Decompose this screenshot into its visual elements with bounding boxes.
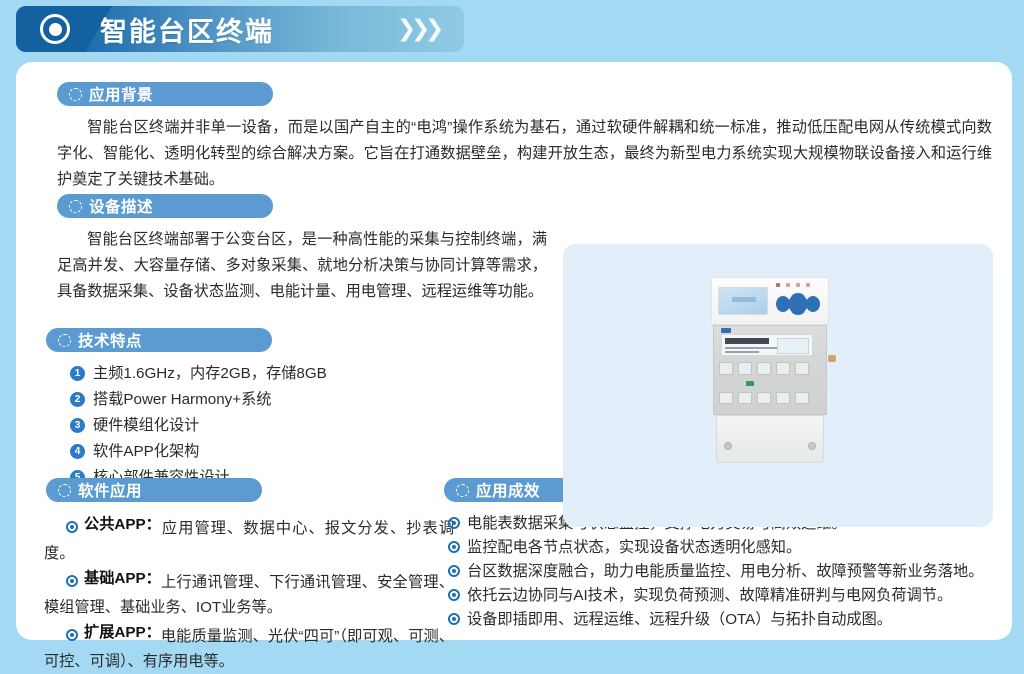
section-pill-label: 设备描述 xyxy=(89,195,153,217)
section-pill-label: 应用成效 xyxy=(476,479,540,501)
terminal xyxy=(738,392,752,404)
list-item: 2 搭载Power Harmony+系统 xyxy=(70,388,510,411)
terminal xyxy=(776,362,790,375)
list-item: 公共APP： 应用管理、数据中心、报文分发、抄表调度。 xyxy=(44,512,454,566)
number-badge: 3 xyxy=(70,418,85,433)
nameplate-spec-box xyxy=(777,338,809,354)
list-item-label: 硬件模组化设计 xyxy=(93,414,199,437)
section-pill-device-description: 设备描述 xyxy=(57,194,273,218)
dashed-circle-icon xyxy=(69,200,82,213)
nameplate-barcode xyxy=(725,338,769,344)
dashed-circle-icon xyxy=(69,88,82,101)
list-item-label: 搭载Power Harmony+系统 xyxy=(93,388,272,411)
led-4 xyxy=(806,283,810,287)
section-background-paragraph: 智能台区终端并非单一设备，而是以国产自主的“电鸿”操作系统为基石，通过软硬件解耦… xyxy=(57,115,992,193)
led-2 xyxy=(786,283,790,287)
device-description-text: 智能台区终端部署于公变台区，是一种高性能的采集与控制终端，满足高并发、大容量存储… xyxy=(57,231,547,300)
device-terminal-row-bottom xyxy=(719,392,809,404)
content-card: 应用背景 智能台区终端并非单一设备，而是以国产自主的“电鸿”操作系统为基石，通过… xyxy=(16,62,1012,640)
header-banner: 智能台区终端 ❯ ❯ ❯ xyxy=(16,6,464,52)
led-1 xyxy=(776,283,780,287)
bullseye-icon xyxy=(448,517,460,529)
bullseye-icon xyxy=(448,565,460,577)
section-device-header: 设备描述 xyxy=(57,194,273,218)
chevron-2: ❯ xyxy=(411,17,424,41)
number-badge: 2 xyxy=(70,392,85,407)
terminal xyxy=(795,362,809,375)
bullseye-icon xyxy=(448,541,460,553)
target-dot-icon xyxy=(40,14,70,44)
device-top-panel xyxy=(711,277,829,325)
section-pill-background: 应用背景 xyxy=(57,82,273,106)
section-tech-header: 技术特点 xyxy=(46,328,272,352)
list-item: 监控配电各节点状态，实现设备状态透明化感知。 xyxy=(448,536,1008,560)
list-item-label: 监控配电各节点状态，实现设备状态透明化感知。 xyxy=(467,536,801,560)
device-navigation-pad xyxy=(776,293,820,315)
application-results-list: 电能表数据采集与状态监控，支撑电力交易与高效运维。 监控配电各节点状态，实现设备… xyxy=(448,512,1008,632)
terminal xyxy=(719,392,733,404)
bullseye-icon xyxy=(66,629,78,641)
tech-features-list: 1 主频1.6GHz，内存2GB，存储8GB 2 搭载Power Harmony… xyxy=(70,362,510,492)
bullseye-icon xyxy=(66,575,78,587)
dashed-circle-icon xyxy=(58,484,71,497)
terminal xyxy=(776,392,790,404)
terminal xyxy=(795,392,809,404)
section-pill-tech-features: 技术特点 xyxy=(46,328,272,352)
device-middle-panel xyxy=(713,325,827,415)
list-item: 扩展APP： 电能质量监测、光伏“四可”（即可观、可测、可控、可调）、有序用电等… xyxy=(44,620,454,674)
list-item-lead: 公共APP： xyxy=(66,512,161,537)
bullseye-icon xyxy=(448,589,460,601)
device-lcd-screen xyxy=(718,287,768,315)
section-pill-label: 技术特点 xyxy=(78,329,142,351)
triple-chevron-right-icon: ❯ ❯ ❯ xyxy=(397,17,438,41)
dashed-circle-icon xyxy=(58,334,71,347)
section-pill-software-apps: 软件应用 xyxy=(46,478,262,502)
screw-left xyxy=(724,442,732,450)
list-item-lead: 基础APP： xyxy=(66,566,161,591)
device-side-connector xyxy=(828,355,836,362)
smart-terminal-device-photo xyxy=(563,244,993,527)
device-status-led-green xyxy=(746,381,754,386)
list-item-title: 扩展APP： xyxy=(84,620,161,645)
section-pill-label: 应用背景 xyxy=(89,83,153,105)
number-badge: 4 xyxy=(70,444,85,459)
pad-left xyxy=(776,296,790,312)
list-item-label: 依托云边协同与AI技术，实现负荷预测、故障精准研判与电网负荷调节。 xyxy=(467,584,952,608)
list-item: 4 软件APP化架构 xyxy=(70,440,510,463)
pad-center xyxy=(789,297,807,311)
list-item: 设备即插即用、远程运维、远程升级（OTA）与拓扑自动成图。 xyxy=(448,608,1008,632)
device-nameplate xyxy=(721,334,813,356)
page-title: 智能台区终端 xyxy=(100,10,274,49)
list-item: 依托云边协同与AI技术，实现负荷预测、故障精准研判与电网负荷调节。 xyxy=(448,584,1008,608)
list-item-label: 设备即插即用、远程运维、远程升级（OTA）与拓扑自动成图。 xyxy=(467,608,892,632)
terminal xyxy=(719,362,733,375)
chevron-3: ❯ xyxy=(425,17,438,41)
chevron-1: ❯ xyxy=(397,17,410,41)
terminal xyxy=(738,362,752,375)
list-item: 3 硬件模组化设计 xyxy=(70,414,510,437)
nameplate-line xyxy=(725,351,759,353)
list-item-title: 基础APP： xyxy=(84,566,161,591)
terminal xyxy=(757,392,771,404)
list-item: 台区数据深度融合，助力电能质量监控、用电分析、故障预警等新业务落地。 xyxy=(448,560,1008,584)
bullseye-icon xyxy=(448,613,460,625)
poster-page: 智能台区终端 ❯ ❯ ❯ 应用背景 智能台区终端并非单一设备，而是以国产自主的“… xyxy=(0,0,1024,656)
background-text: 智能台区终端并非单一设备，而是以国产自主的“电鸿”操作系统为基石，通过软硬件解耦… xyxy=(57,119,992,188)
led-3 xyxy=(796,283,800,287)
screw-right xyxy=(808,442,816,450)
list-item-label: 软件APP化架构 xyxy=(93,440,199,463)
device-illustration xyxy=(711,277,829,481)
section-software-header: 软件应用 xyxy=(46,478,262,502)
section-background-header: 应用背景 xyxy=(57,82,273,106)
device-brand-logo xyxy=(721,328,731,333)
list-item: 基础APP： 上行通讯管理、下行通讯管理、安全管理、模组管理、基础业务、IOT业… xyxy=(44,566,454,620)
device-terminal-cover xyxy=(716,415,824,463)
list-item-title: 公共APP： xyxy=(84,512,161,537)
list-item-label: 主频1.6GHz，内存2GB，存储8GB xyxy=(93,362,327,385)
list-item-label: 台区数据深度融合，助力电能质量监控、用电分析、故障预警等新业务落地。 xyxy=(467,560,983,584)
section-device-paragraph: 智能台区终端部署于公变台区，是一种高性能的采集与控制终端，满足高并发、大容量存储… xyxy=(57,227,547,305)
device-terminal-row-top xyxy=(719,362,809,375)
list-item: 1 主频1.6GHz，内存2GB，存储8GB xyxy=(70,362,510,385)
section-pill-label: 软件应用 xyxy=(78,479,142,501)
device-led-indicators xyxy=(776,283,810,287)
software-apps-list: 公共APP： 应用管理、数据中心、报文分发、抄表调度。 基础APP： 上行通讯管… xyxy=(44,512,454,674)
pad-right xyxy=(806,296,820,312)
number-badge: 1 xyxy=(70,366,85,381)
dashed-circle-icon xyxy=(456,484,469,497)
nameplate-line xyxy=(725,347,777,349)
list-item-lead: 扩展APP： xyxy=(66,620,161,645)
bullseye-icon xyxy=(66,521,78,533)
terminal xyxy=(757,362,771,375)
